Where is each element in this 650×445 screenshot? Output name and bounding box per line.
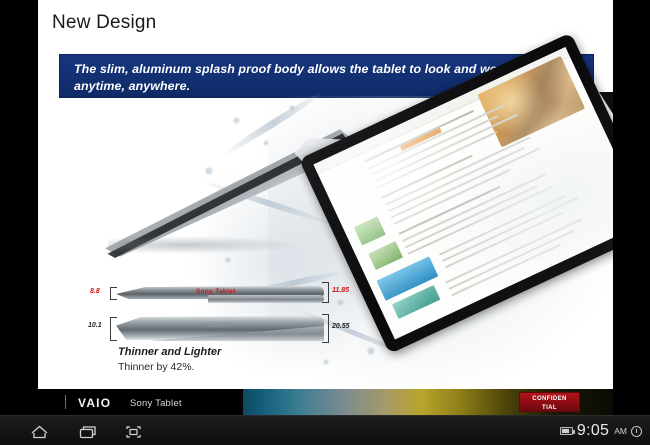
dimension-label-new-left: 8.8	[90, 288, 100, 295]
status-bar-right[interactable]: 9:05 AM	[560, 416, 642, 445]
new-device-bar-lower	[208, 295, 324, 303]
confidential-line-1: CONFIDEN	[520, 395, 579, 404]
water-droplet-icon	[368, 348, 374, 354]
comparison-headline: Thinner and Lighter	[118, 346, 221, 358]
water-droplet-icon	[226, 258, 230, 262]
vaio-logo: VAIO	[78, 396, 111, 410]
water-droplet-icon	[290, 106, 294, 110]
footer-brand-area: VAIO Sony Tablet	[38, 389, 243, 415]
battery-icon	[560, 427, 573, 435]
dimension-line-old-left	[110, 317, 111, 340]
comparison-subline: Thinner by 42%.	[118, 361, 194, 373]
dimension-label-old-right: 20.55	[332, 323, 350, 330]
screenshot-icon[interactable]	[118, 421, 148, 442]
old-device-bar-label: Tablet S	[206, 322, 233, 329]
dimension-line-old-right	[328, 314, 329, 342]
confidential-line-2: TIAL	[520, 404, 579, 413]
dimension-tick	[322, 342, 329, 343]
battery-level-fill	[562, 429, 569, 433]
system-navigation-bar: 9:05 AM	[0, 415, 650, 445]
clock-time: 9:05	[577, 422, 609, 440]
dimension-line-new-left	[110, 287, 111, 299]
new-device-bar-label: Sony Tablet	[196, 288, 236, 295]
recent-apps-icon[interactable]	[72, 421, 102, 442]
dimension-tick	[110, 340, 117, 341]
slide-footer-strip: VAIO Sony Tablet CONFIDEN TIAL	[38, 389, 613, 415]
dimension-tick	[110, 317, 117, 318]
confidential-badge: CONFIDEN TIAL	[519, 392, 580, 412]
home-icon[interactable]	[24, 421, 54, 442]
thickness-comparison-diagram: Sony Tablet Tablet S 8.8 11.85 10.1	[88, 278, 353, 386]
alarm-clock-icon	[631, 426, 642, 437]
dimension-line-new-right	[328, 282, 329, 302]
product-label: Sony Tablet	[130, 398, 182, 409]
clock-ampm: AM	[614, 426, 627, 436]
dimension-tick	[110, 287, 117, 288]
dimension-tick	[110, 299, 117, 300]
screen-root: New Design The slim, aluminum splash pro…	[0, 0, 650, 445]
presentation-slide[interactable]: New Design The slim, aluminum splash pro…	[38, 0, 613, 415]
dimension-label-new-right: 11.85	[332, 287, 349, 294]
dimension-tick	[322, 282, 329, 283]
dimension-label-old-left: 10.1	[88, 322, 102, 329]
dimension-tick	[322, 314, 329, 315]
footer-divider	[65, 395, 66, 409]
page-title: New Design	[52, 12, 156, 34]
tablet-shadow	[108, 236, 298, 254]
dimension-tick	[322, 302, 329, 303]
